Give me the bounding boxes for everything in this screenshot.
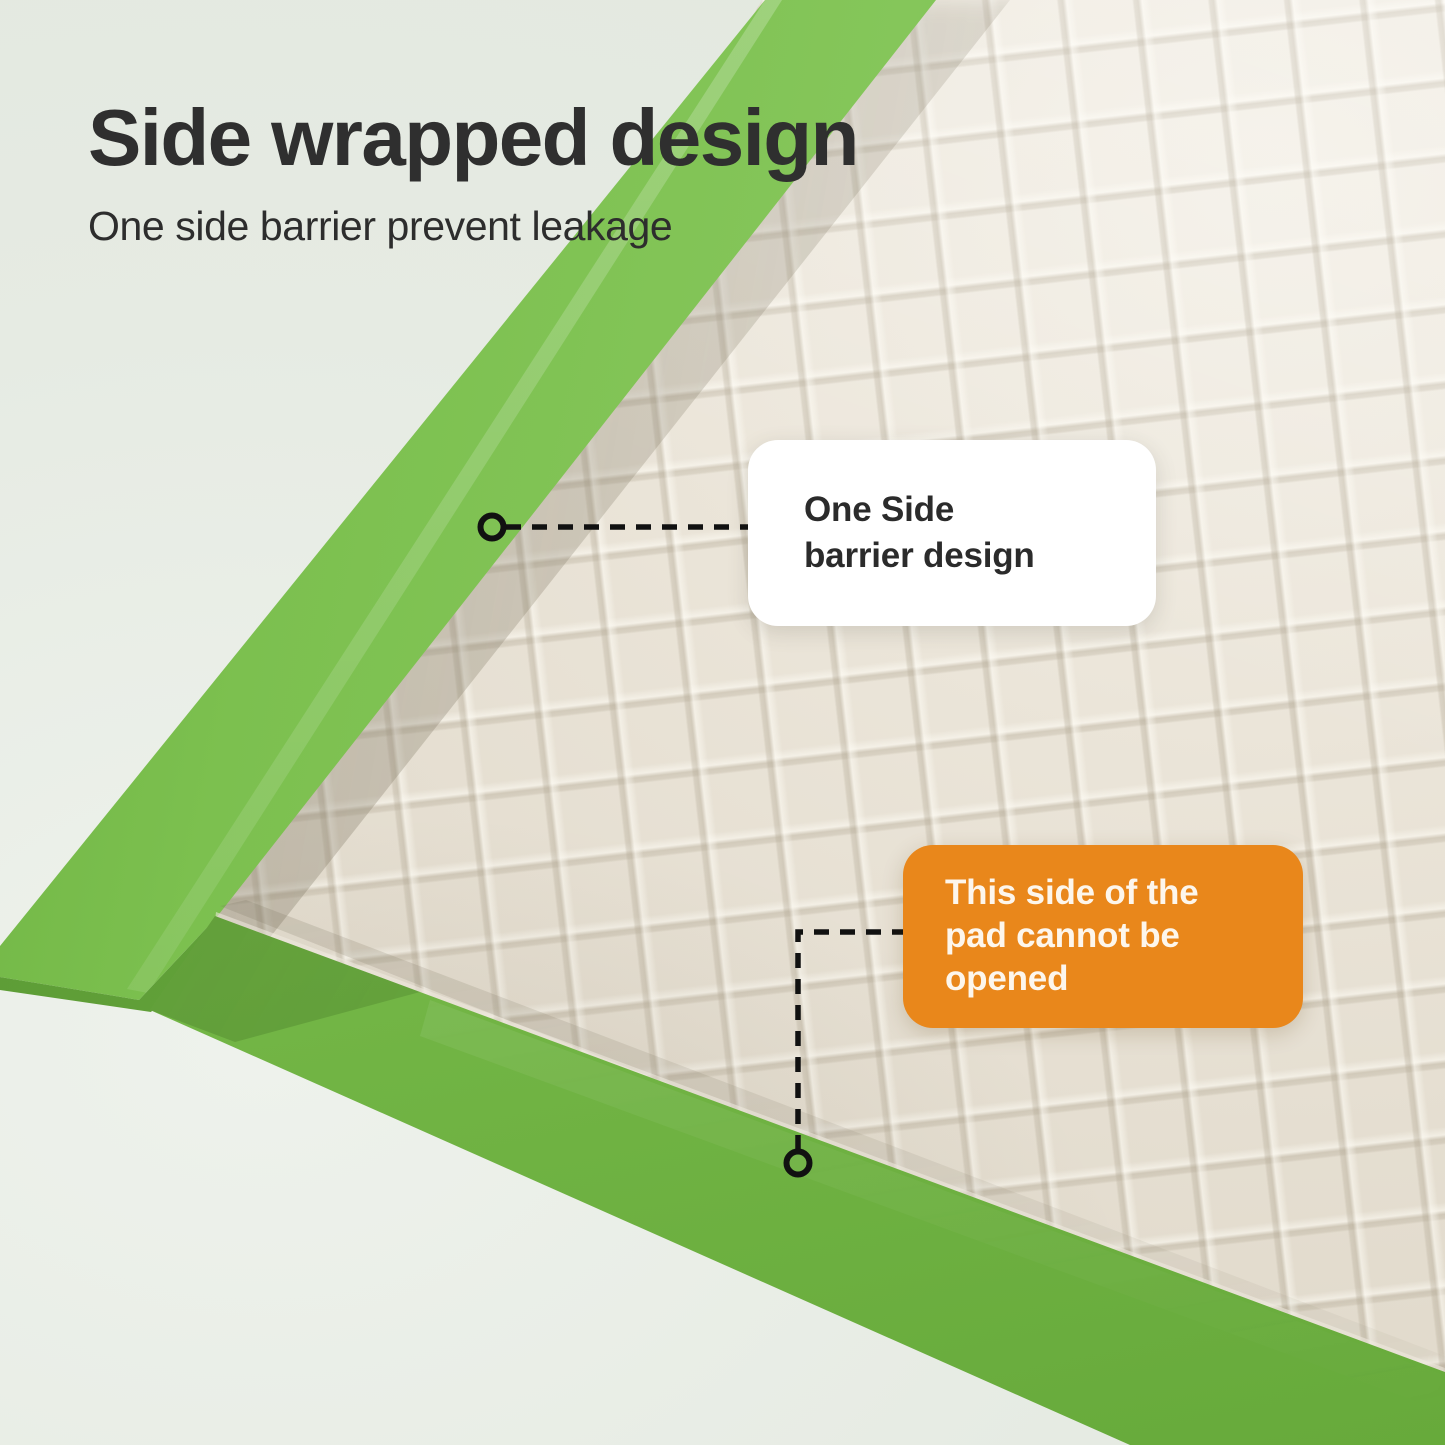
callout-line: One Side: [804, 487, 1156, 533]
callout-line: opened: [945, 958, 1303, 1001]
page-title: Side wrapped design: [88, 98, 1088, 178]
callout-one-side-barrier-design: One Side barrier design: [748, 440, 1156, 626]
heading-block: Side wrapped design One side barrier pre…: [88, 98, 1088, 249]
page-subtitle: One side barrier prevent leakage: [88, 204, 1088, 249]
product-infographic: Side wrapped design One side barrier pre…: [0, 0, 1445, 1445]
callout-line: barrier design: [804, 533, 1156, 579]
callout-line: This side of the: [945, 872, 1303, 915]
callout-line: pad cannot be: [945, 915, 1303, 958]
callout-this-side-cannot-be-opened: This side of the pad cannot be opened: [903, 845, 1303, 1028]
